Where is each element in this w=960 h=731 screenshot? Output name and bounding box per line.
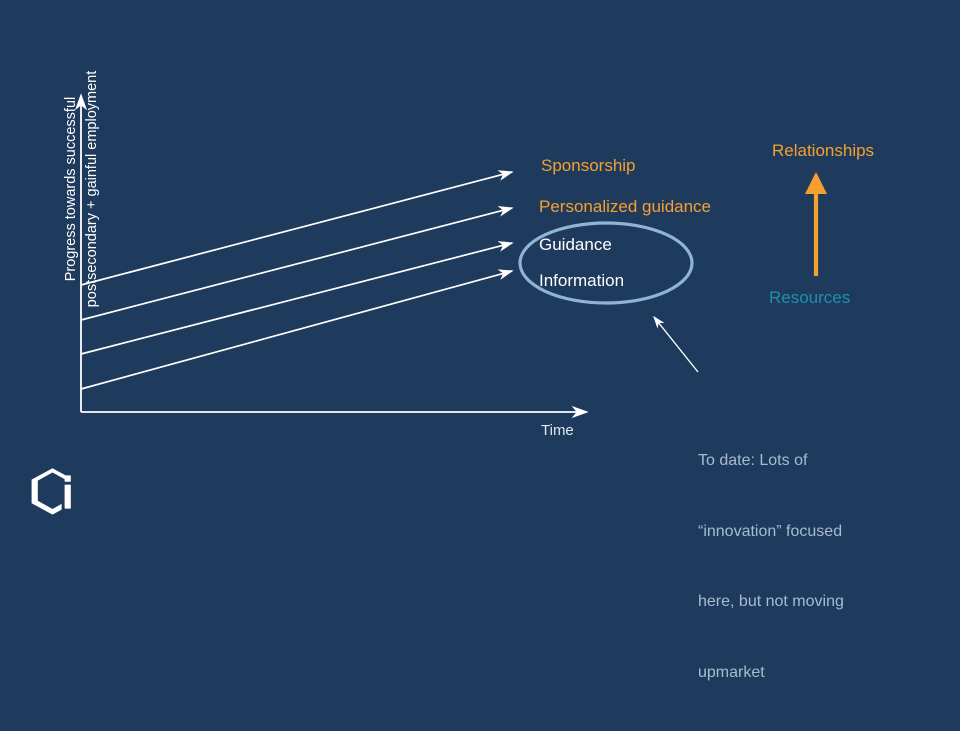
annotation-line-3: here, but not moving [698, 590, 844, 614]
y-axis-label: Progress towards successful postsecondar… [61, 39, 103, 339]
annotation-pointer-arrow [654, 317, 698, 372]
trend-line-personalized-guidance [81, 208, 512, 320]
stage-label-sponsorship: Sponsorship [541, 155, 636, 176]
stage-label-guidance: Guidance [539, 234, 612, 255]
trend-line-information [81, 271, 512, 389]
resources-to-relationships-arrow [805, 172, 827, 276]
annotation-callout: To date: Lots of “innovation” focused he… [698, 402, 844, 731]
annotation-line-4: upmarket [698, 661, 844, 685]
y-axis-label-line2: postsecondary + gainful employment [82, 39, 103, 339]
trend-line-sponsorship [81, 172, 512, 285]
y-axis-label-line1: Progress towards successful [61, 39, 82, 339]
annotation-line-1: To date: Lots of [698, 449, 844, 473]
slide-canvas: Progress towards successful postsecondar… [0, 0, 960, 540]
stage-label-information: Information [539, 270, 624, 291]
resources-label: Resources [769, 287, 850, 308]
relationships-label: Relationships [772, 140, 874, 161]
stage-label-personalized-guidance: Personalized guidance [539, 196, 711, 217]
trend-line-guidance [81, 243, 512, 354]
ci-hexagon-logo-icon [28, 465, 76, 517]
x-axis-label: Time [541, 422, 574, 441]
